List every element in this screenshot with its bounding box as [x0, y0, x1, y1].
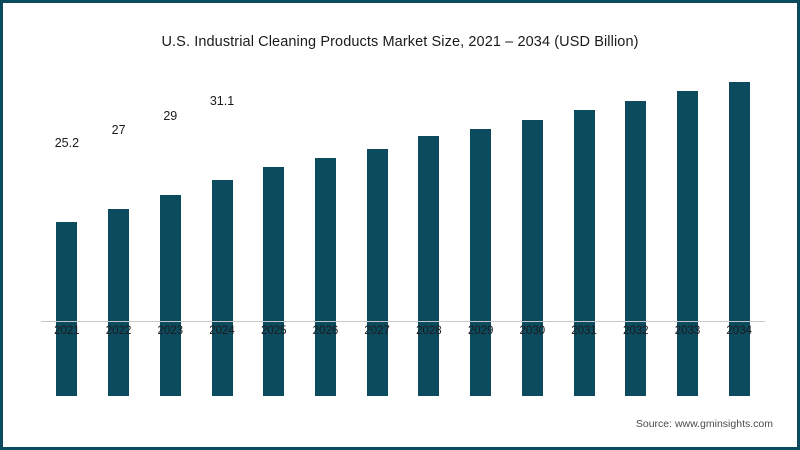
bar-value-label: 25.2 [37, 136, 97, 150]
bar-slot [351, 78, 403, 396]
bar[interactable] [263, 167, 284, 396]
bar[interactable] [108, 209, 129, 396]
x-tick-label: 2021 [41, 325, 93, 337]
bar-slot: 25.2 [41, 78, 93, 396]
x-tick-label: 2033 [662, 325, 714, 337]
x-axis-tick-labels: 2021 2022 2023 2024 2025 2026 2027 2028 … [41, 325, 765, 337]
bar-slot [662, 78, 714, 396]
bar[interactable] [729, 82, 750, 396]
bar-value-label: 29 [140, 109, 200, 123]
x-tick-label: 2032 [610, 325, 662, 337]
bar-slot [558, 78, 610, 396]
bar-slot [403, 78, 455, 396]
x-tick-label: 2028 [403, 325, 455, 337]
x-tick-label: 2029 [455, 325, 507, 337]
x-tick-label: 2024 [196, 325, 248, 337]
bar-slot [713, 78, 765, 396]
bar-value-label: 27 [89, 123, 149, 137]
bar[interactable] [160, 195, 181, 396]
bar-slot [300, 78, 352, 396]
x-tick-label: 2027 [351, 325, 403, 337]
bar[interactable] [470, 129, 491, 396]
bar-value-label: 31.1 [192, 94, 252, 108]
x-tick-label: 2023 [144, 325, 196, 337]
bar[interactable] [574, 110, 595, 396]
x-tick-label: 2022 [93, 325, 145, 337]
bar-series: 25.2 27 29 31.1 [41, 78, 765, 396]
bar-slot [248, 78, 300, 396]
x-tick-label: 2030 [506, 325, 558, 337]
bar-slot: 29 [144, 78, 196, 396]
bar-slot: 27 [93, 78, 145, 396]
bar[interactable] [212, 180, 233, 396]
source-credit: Source: www.gminsights.com [636, 418, 773, 430]
chart-title: U.S. Industrial Cleaning Products Market… [3, 34, 797, 50]
plot-area: 25.2 27 29 31.1 [41, 78, 765, 396]
bar[interactable] [522, 120, 543, 396]
bar[interactable] [367, 149, 388, 396]
x-tick-label: 2034 [713, 325, 765, 337]
bar-slot [455, 78, 507, 396]
bar[interactable] [418, 136, 439, 396]
bar[interactable] [315, 158, 336, 396]
x-axis-line [41, 321, 765, 322]
x-tick-label: 2031 [558, 325, 610, 337]
bar-slot: 31.1 [196, 78, 248, 396]
x-tick-label: 2026 [300, 325, 352, 337]
bar-slot [506, 78, 558, 396]
bar[interactable] [625, 101, 646, 396]
bar[interactable] [56, 222, 77, 396]
x-tick-label: 2025 [248, 325, 300, 337]
bar[interactable] [677, 91, 698, 396]
bar-slot [610, 78, 662, 396]
chart-figure: U.S. Industrial Cleaning Products Market… [0, 0, 800, 450]
